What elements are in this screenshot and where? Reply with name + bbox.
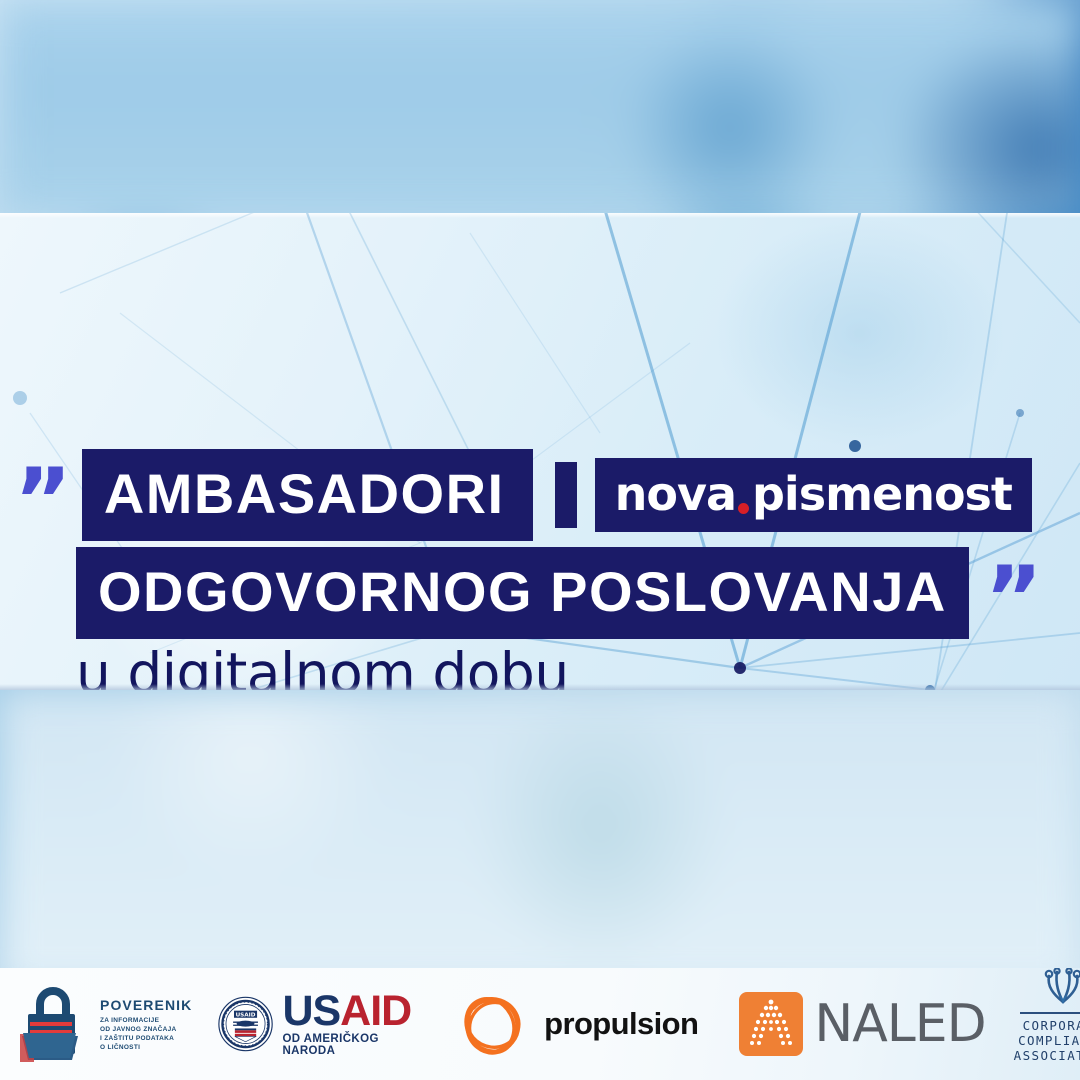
cca-figure-icon [1035, 968, 1080, 1010]
usaid-seal-icon: USAID [218, 993, 273, 1055]
usaid-word-us: US [282, 987, 340, 1035]
headline-line-2: ODGOVORNOG POSLOVANJA [76, 547, 969, 639]
cca-line-1: CORPORATE [1023, 1018, 1080, 1033]
cca-line-3: ASSOCIATION [1014, 1048, 1080, 1063]
usaid-wordmark: USAID [282, 991, 418, 1032]
cca-divider [1020, 1012, 1080, 1014]
logo-text-nova: nova [615, 471, 736, 517]
partner-logo-cca: CORPORATE COMPLIANCE ASSOCIATION [1014, 968, 1080, 1080]
poverenik-subtitle-line-2: OD JAVNOG ZNAČAJA [100, 1025, 192, 1034]
banner-bottom-edge [0, 684, 1080, 690]
partner-logo-propulsion: propulsion [454, 968, 698, 1080]
padlock-folder-icon [14, 984, 92, 1064]
orange-scribble-circle-icon [454, 986, 530, 1062]
hero-banner: ” AMBASADORI nova pismenost ODGOVORNOG P… [0, 213, 1080, 690]
logo-text-pismenost: pismenost [752, 471, 1012, 517]
cca-line-2: COMPLIANCE [1018, 1033, 1080, 1048]
naled-wordmark: NALED [814, 994, 985, 1054]
poverenik-subtitle-line-1: ZA INFORMACIJE [100, 1016, 192, 1025]
poverenik-title: POVERENIK [100, 997, 192, 1013]
usaid-text: USAID OD AMERIČKOG NARODA [282, 991, 418, 1058]
partner-logo-strip: POVERENIK ZA INFORMACIJE OD JAVNOG ZNAČA… [0, 968, 1080, 1080]
usaid-word-aid: AID [340, 987, 411, 1035]
svg-text:USAID: USAID [236, 1013, 256, 1019]
usaid-tagline: OD AMERIČKOG NARODA [282, 1033, 418, 1057]
nova-pismenost-logo: nova pismenost [595, 458, 1032, 532]
propulsion-wordmark: propulsion [544, 1006, 698, 1042]
headline-separator-block [555, 462, 577, 528]
partner-logo-poverenik: POVERENIK ZA INFORMACIJE OD JAVNOG ZNAČA… [14, 968, 192, 1080]
background-lower-band [0, 690, 1080, 990]
headline-row-1: ” AMBASADORI nova pismenost [14, 449, 1032, 541]
logo-dot-icon [738, 503, 749, 514]
poverenik-text: POVERENIK ZA INFORMACIJE OD JAVNOG ZNAČA… [100, 997, 192, 1052]
poverenik-subtitle-line-3: I ZAŠTITU PODATAKA [100, 1034, 192, 1043]
partner-logo-naled: NALED [738, 968, 985, 1080]
poverenik-subtitle-line-4: O LIČNOSTI [100, 1043, 192, 1052]
background-top-band [0, 0, 1080, 215]
naled-orange-square-icon [738, 991, 804, 1057]
headline-row-2: ODGOVORNOG POSLOVANJA ” [76, 547, 1041, 639]
poverenik-subtitle: ZA INFORMACIJE OD JAVNOG ZNAČAJA I ZAŠTI… [100, 1016, 192, 1052]
partner-logo-usaid: USAID USAID OD AMERIČKOG NARODA [218, 968, 418, 1080]
headline-line-1: AMBASADORI [82, 449, 533, 541]
banner-subtitle: u digitalnom dobu [76, 641, 569, 690]
